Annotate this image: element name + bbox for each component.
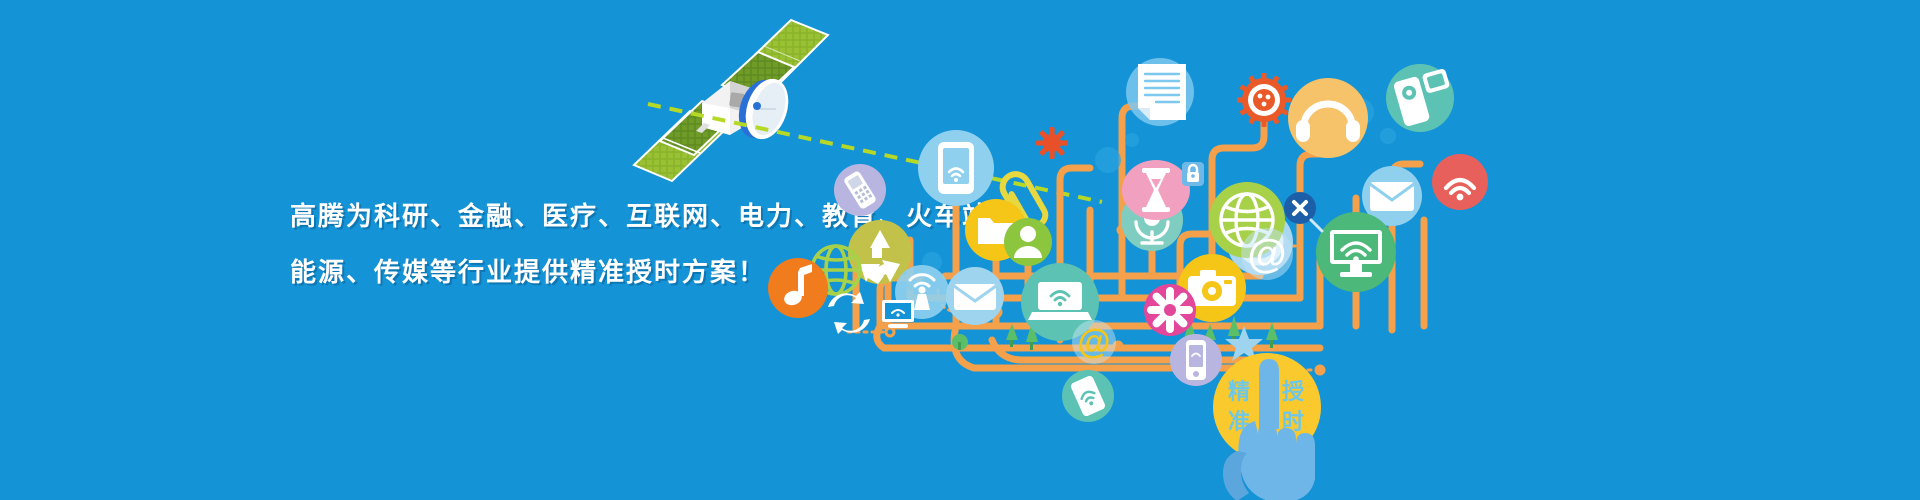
promo-banner: 高腾为科研、金融、医疗、互联网、电力、教育、火车站、 能源、传媒等行业提供精准授… (0, 0, 1920, 500)
technology-icon-tree: @ (760, 40, 1500, 500)
gear-icon[interactable] (1036, 127, 1068, 159)
wifi-signal-icon[interactable] (1432, 154, 1488, 210)
pointing-hand (1215, 355, 1375, 500)
svg-text:@: @ (1077, 323, 1110, 361)
user-icon[interactable] (1004, 218, 1052, 266)
mp3-player-icon[interactable] (1386, 64, 1457, 132)
cog-wheel-icon[interactable] (1237, 73, 1291, 127)
feature-phone-icon[interactable] (834, 164, 886, 216)
flower-icon[interactable] (1142, 282, 1198, 338)
refresh-icon[interactable] (828, 292, 870, 334)
tablet-signal-icon[interactable] (1062, 370, 1114, 422)
document-icon[interactable] (1126, 58, 1194, 126)
envelope-small-icon[interactable] (944, 265, 1006, 327)
flower-icon-wrapper (1142, 282, 1198, 343)
lock-icon-wrapper (1178, 158, 1208, 195)
tv-wifi-wrapper (878, 298, 918, 337)
headphones-icon[interactable] (1288, 78, 1368, 158)
envelope-hub-wrapper (944, 265, 1006, 332)
music-note-icon[interactable] (768, 258, 828, 318)
tablet-wifi-icon[interactable] (918, 130, 994, 206)
at-sign-right-wrapper: @ (1238, 225, 1296, 288)
lock-icon[interactable] (1178, 158, 1208, 190)
tv-wifi-icon[interactable] (878, 298, 918, 332)
monitor-wifi-icon[interactable] (1316, 212, 1396, 292)
at-sign-icon[interactable]: @ (1238, 225, 1296, 283)
at-sign-icon[interactable]: @ (1072, 320, 1116, 364)
svg-text:@: @ (1247, 232, 1286, 276)
